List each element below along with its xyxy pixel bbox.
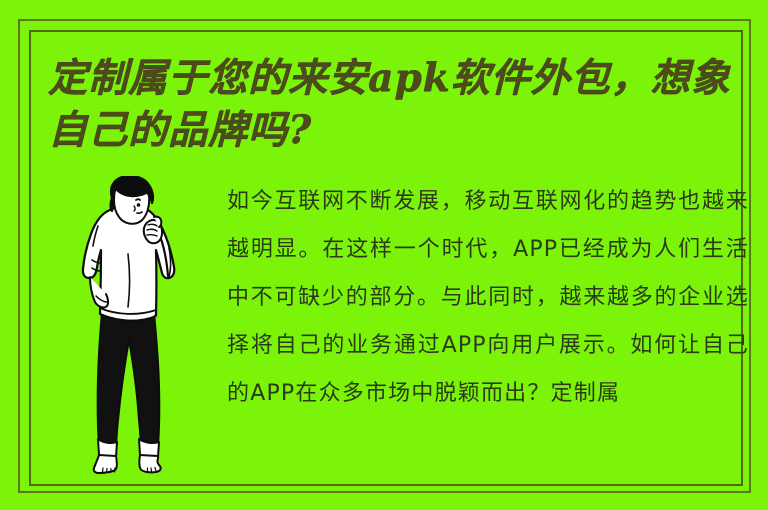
ground-divider	[31, 484, 741, 486]
person-illustration	[68, 176, 200, 476]
page-title: 定制属于您的来安apk软件外包，想象自己的品牌吗?	[48, 52, 738, 156]
standing-person-icon	[68, 176, 200, 476]
poster-canvas: 定制属于您的来安apk软件外包，想象自己的品牌吗?	[0, 0, 768, 510]
body-paragraph: 如今互联网不断发展，移动互联网化的趋势也越来越明显。在这样一个时代，APP已经成…	[227, 178, 749, 478]
